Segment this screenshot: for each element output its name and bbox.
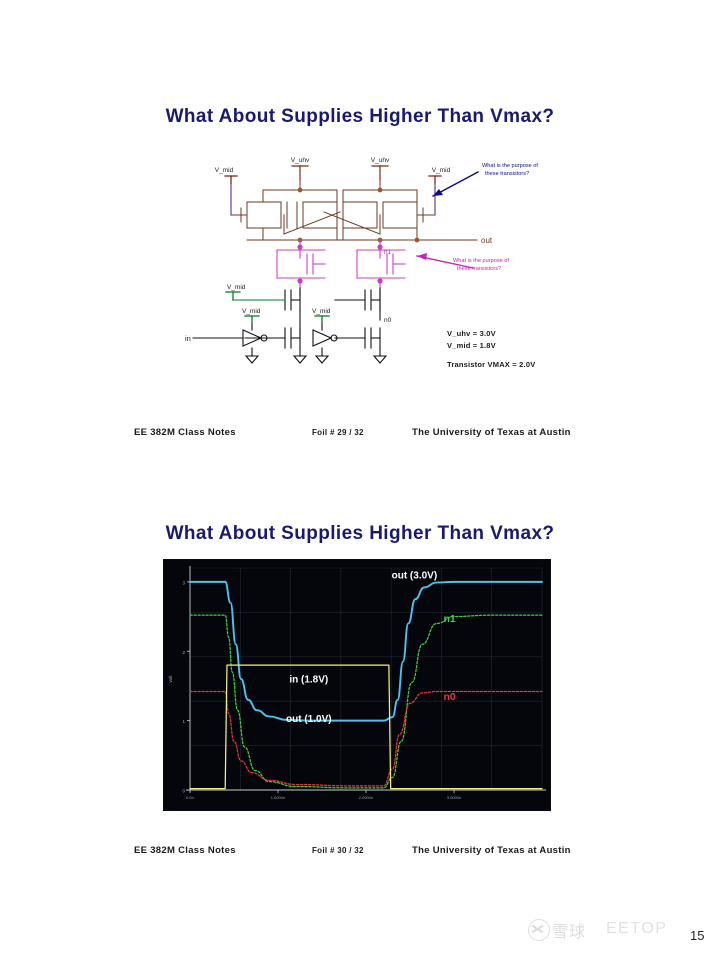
chart-annotation-4: n0 <box>443 691 455 703</box>
svg-text:1.0000n: 1.0000n <box>271 795 285 800</box>
footer-university-2: The University of Texas at Austin <box>412 845 571 856</box>
footer-foil-number-2: Foil # 30 / 32 <box>312 846 364 855</box>
svg-text:3.0000n: 3.0000n <box>447 795 461 800</box>
svg-text:0.0n: 0.0n <box>186 795 194 800</box>
waveform-chart: out (3.0V)n1in (1.8V)out (1.0V)n0 0123vo… <box>163 559 551 811</box>
page-number: 15 <box>690 928 704 943</box>
document-page: What About Supplies Higher Than Vmax? <box>0 0 720 955</box>
footer-class-notes-2: EE 382M Class Notes <box>134 845 236 856</box>
watermark-cn: 雪球 <box>552 918 586 942</box>
chart-annotation-3: out (1.0V) <box>286 714 332 725</box>
svg-text:volt: volt <box>168 675 173 683</box>
watermark: 雪球 EETOP <box>528 916 698 946</box>
watermark-en: EETOP <box>606 920 667 938</box>
slide-footer-2: EE 382M Class Notes Foil # 30 / 32 The U… <box>0 845 720 861</box>
slide-30: What About Supplies Higher Than Vmax? ou… <box>0 0 720 955</box>
chart-annotation-0: out (3.0V) <box>392 570 438 581</box>
page-title-2: What About Supplies Higher Than Vmax? <box>0 523 720 545</box>
chart-annotation-1: n1 <box>443 613 455 625</box>
svg-text:2.0000n: 2.0000n <box>359 795 373 800</box>
xueqiu-logo-icon <box>528 919 550 941</box>
chart-annotation-2: in (1.8V) <box>289 674 328 685</box>
